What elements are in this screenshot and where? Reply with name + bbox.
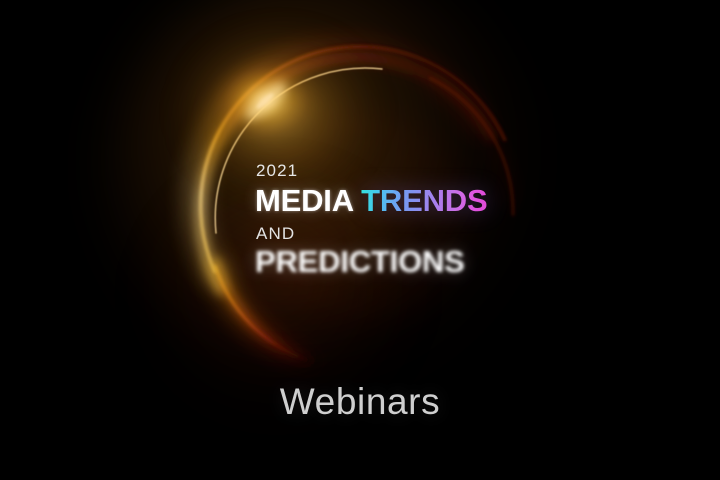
headline-word-media: MEDIA bbox=[255, 183, 353, 218]
corona-limb-lower bbox=[215, 266, 307, 360]
headline-conjunction: AND bbox=[256, 225, 555, 242]
corona-halo-lower-wide bbox=[216, 268, 312, 362]
eclipse-hotspot-glow bbox=[204, 51, 328, 151]
headline-year: 2021 bbox=[256, 162, 555, 179]
headline-line-one: MEDIA TRENDS bbox=[255, 185, 555, 216]
headline-word-trends: TRENDS bbox=[361, 183, 487, 218]
headline-line-two: PREDICTIONS bbox=[255, 246, 555, 277]
headline-word-spacer bbox=[353, 183, 361, 218]
eclipse-hotspot-core bbox=[255, 91, 275, 110]
caption-block: Webinars bbox=[0, 383, 720, 420]
headline-block: 2021 MEDIA TRENDS AND PREDICTIONS bbox=[255, 162, 555, 277]
caption-webinars: Webinars bbox=[280, 383, 440, 420]
title-slide: 2021 MEDIA TRENDS AND PREDICTIONS Webina… bbox=[0, 0, 720, 480]
eclipse-hotspot-streak bbox=[241, 78, 290, 125]
